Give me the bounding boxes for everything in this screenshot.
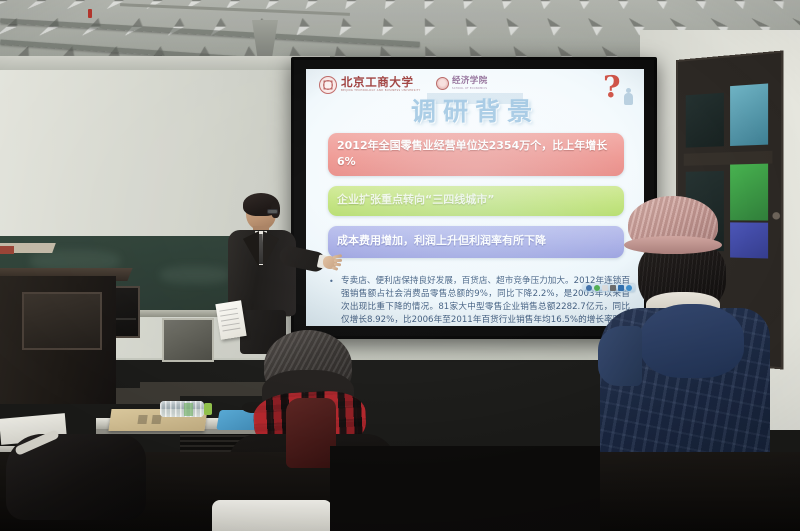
university-name-cn: 北京工商大学	[341, 77, 421, 89]
school-name-en: SCHOOL OF ECONOMICS	[452, 88, 488, 90]
university-seal-icon	[319, 76, 337, 94]
coat-hood	[640, 304, 744, 378]
beret-brim	[624, 236, 722, 254]
podium-panel	[22, 292, 102, 350]
wall-soffit	[0, 56, 330, 70]
bullet-marker: •	[329, 276, 334, 288]
university-logo: 北京工商大学 BEIJING TECHNOLOGY AND BUSINESS U…	[319, 76, 421, 94]
folder-mark	[137, 415, 147, 424]
bottle-label	[184, 403, 193, 416]
presenter	[222, 196, 312, 352]
content-bar-green: 企业扩张重点转向“三四线城市”	[328, 186, 624, 216]
school-logo: 经济学院 SCHOOL OF ECONOMICS	[436, 77, 488, 90]
presentation-slide: 北京工商大学 BEIJING TECHNOLOGY AND BUSINESS U…	[306, 69, 644, 326]
ceiling-indicator-light	[88, 9, 92, 18]
slide-title: 调研背景	[306, 99, 644, 124]
presenter-pointing-hand	[323, 254, 342, 271]
classroom-scene: 北京工商大学 BEIJING TECHNOLOGY AND BUSINESS U…	[0, 0, 800, 531]
school-name-cn: 经济学院	[452, 77, 488, 86]
chalk-smudge	[160, 266, 230, 284]
school-seal-icon	[436, 77, 449, 90]
door-pane-reflection	[730, 83, 768, 146]
bottle-ribbing	[160, 401, 204, 417]
red-bag[interactable]	[286, 398, 336, 468]
woman-shoulder	[598, 326, 642, 386]
door-pane	[686, 93, 724, 148]
bottle-cap	[204, 403, 212, 415]
wall-niche	[162, 318, 214, 362]
door-handle[interactable]	[772, 212, 780, 219]
bullet-text: 专卖店、便利店保持良好发展，百货店、超市竞争压力加大。2012年连锁百强销售额占…	[330, 275, 630, 326]
bottle-body	[160, 401, 204, 417]
foreground-shadow	[330, 446, 600, 531]
university-name-en: BEIJING TECHNOLOGY AND BUSINESS UNIVERSI…	[341, 90, 421, 93]
content-bar-red: 2012年全国零售业经营单位达2354万个，比上年增长6%	[328, 133, 624, 176]
presenter-glasses	[267, 209, 278, 214]
chair-seat	[212, 500, 332, 531]
content-bar-blue: 成本费用增加，利润上升但利润率有所下降	[328, 226, 624, 258]
slide-content-bars: 2012年全国零售业经营单位达2354万个，比上年增长6% 企业扩张重点转向“三…	[328, 133, 624, 268]
podium-marker	[0, 246, 14, 254]
slide-bullet-block: • 专卖店、便利店保持良好发展，百货店、超市竞争压力加大。2012年连锁百强销售…	[330, 275, 630, 326]
water-bottle[interactable]	[160, 398, 214, 419]
network-icon[interactable]	[586, 285, 592, 291]
